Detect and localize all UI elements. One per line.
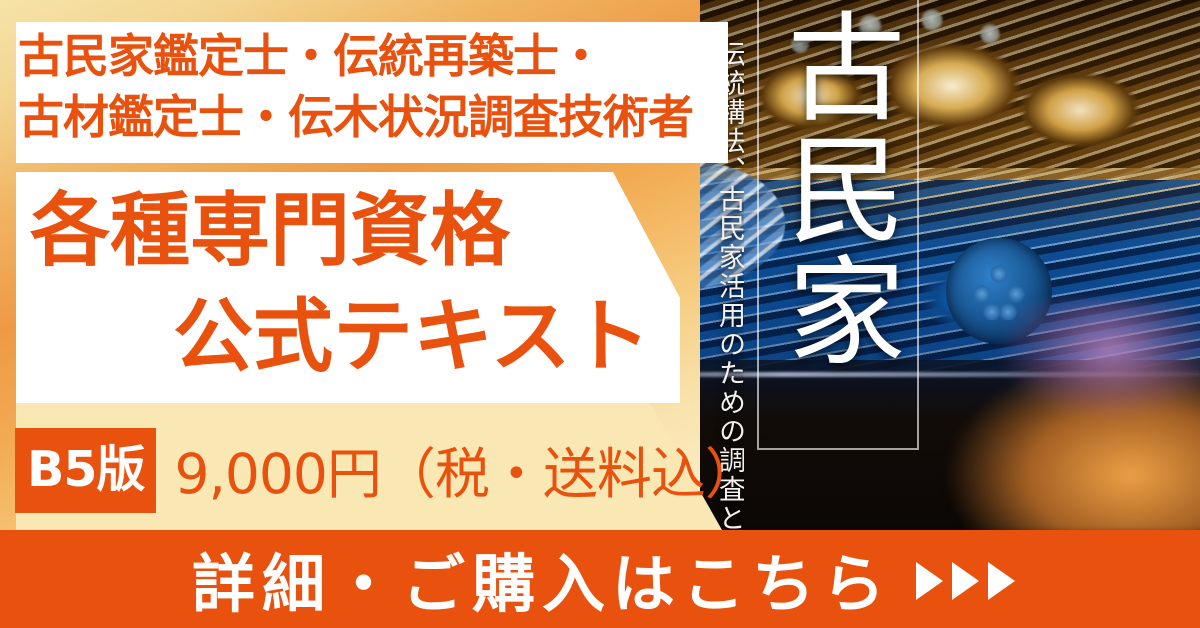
headline-line-1: 各種専門資格 (18, 178, 678, 284)
cta-arrows (916, 562, 1015, 600)
certification-text: 古民家鑑定士・伝統再築士・ 古材鑑定士・伝木状況調査技術者 (18, 26, 718, 147)
format-badge: B5版 (15, 428, 156, 513)
book-title: 古民家 (772, 6, 904, 436)
certification-line-2: 古材鑑定士・伝木状況調査技術者 (18, 87, 718, 148)
price-row: B5版 9,000円（税・送料込） (15, 428, 759, 513)
cta-label: 詳細・ご購入はこちら (185, 534, 892, 625)
cta-bar[interactable]: 詳細・ご購入はこちら (0, 530, 1200, 628)
headline: 各種専門資格 公式テキスト (18, 178, 678, 391)
arrow-right-icon (988, 562, 1015, 600)
certification-line-1: 古民家鑑定士・伝統再築士・ (18, 26, 718, 87)
arrow-right-icon (916, 562, 943, 600)
price-text: 9,000円（税・送料込） (174, 429, 758, 513)
arrow-right-icon (952, 562, 979, 600)
headline-line-2: 公式テキスト (18, 284, 678, 390)
promo-banner[interactable]: 古民家 伝統構法、古民家活用のための調査と再生の 古民家鑑定士・伝統再築士・ 古… (0, 0, 1200, 628)
